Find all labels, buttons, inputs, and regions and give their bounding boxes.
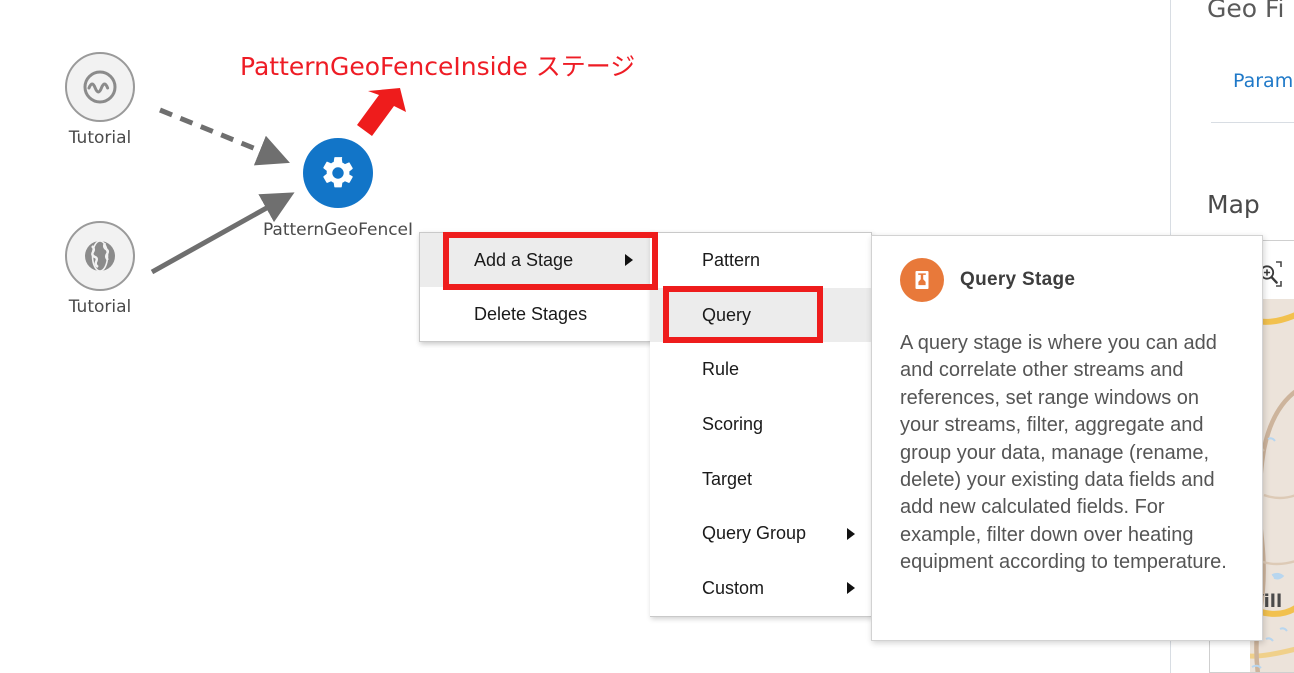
node-geo-circle[interactable] xyxy=(65,221,135,291)
menu-item-add-a-stage[interactable]: Add a Stage xyxy=(420,233,651,287)
node-geo-label: Tutorial xyxy=(62,297,138,317)
tooltip-header: Query Stage xyxy=(900,258,1238,302)
submenu-item-query-label: Query xyxy=(702,305,751,326)
connector-dashed xyxy=(160,110,283,160)
submenu-item-scoring-label: Scoring xyxy=(702,414,763,435)
panel-title: Geo Fi xyxy=(1207,0,1285,23)
node-pattern-geofence-inside[interactable]: PatternGeoFenceI xyxy=(300,138,376,208)
chevron-right-icon xyxy=(625,254,633,266)
node-geo[interactable]: Tutorial xyxy=(62,221,138,317)
map-section-heading: Map xyxy=(1207,190,1260,219)
submenu-item-custom[interactable]: Custom xyxy=(650,561,871,616)
gear-icon xyxy=(319,154,357,192)
submenu-item-query-group[interactable]: Query Group xyxy=(650,506,871,561)
menu-item-delete-stages-label: Delete Stages xyxy=(474,304,587,325)
submenu-item-custom-label: Custom xyxy=(702,578,764,599)
tooltip-title: Query Stage xyxy=(960,269,1075,291)
parameters-link[interactable]: Param xyxy=(1233,70,1293,92)
query-stage-tooltip: Query Stage A query stage is where you c… xyxy=(871,235,1263,641)
submenu-item-pattern[interactable]: Pattern xyxy=(650,233,871,288)
chevron-right-icon xyxy=(847,528,855,540)
submenu-item-target[interactable]: Target xyxy=(650,452,871,507)
submenu-item-target-label: Target xyxy=(702,469,752,490)
stream-wave-icon xyxy=(80,67,120,107)
node-pattern-label: PatternGeoFenceI xyxy=(238,220,438,240)
submenu-item-rule-label: Rule xyxy=(702,359,739,380)
menu-item-add-a-stage-label: Add a Stage xyxy=(474,250,573,271)
node-stream-label: Tutorial xyxy=(62,128,138,148)
context-menu[interactable]: Add a Stage Delete Stages xyxy=(419,232,652,342)
chevron-right-icon xyxy=(847,582,855,594)
annotation-arrow-icon xyxy=(352,86,408,148)
query-stage-icon xyxy=(900,258,944,302)
node-stream[interactable]: Tutorial xyxy=(62,52,138,148)
tooltip-description: A query stage is where you can add and c… xyxy=(900,330,1238,577)
add-a-stage-submenu[interactable]: Pattern Query Rule Scoring Target Query … xyxy=(650,232,872,617)
submenu-item-scoring[interactable]: Scoring xyxy=(650,397,871,452)
node-stream-circle[interactable] xyxy=(65,52,135,122)
menu-item-delete-stages[interactable]: Delete Stages xyxy=(420,287,651,341)
submenu-item-pattern-label: Pattern xyxy=(702,250,760,271)
node-pattern-circle[interactable] xyxy=(303,138,373,208)
globe-icon xyxy=(81,237,119,275)
submenu-item-query[interactable]: Query xyxy=(650,288,871,343)
annotation-label: PatternGeoFenceInside ステージ xyxy=(240,47,635,83)
panel-divider xyxy=(1211,122,1294,123)
submenu-item-rule[interactable]: Rule xyxy=(650,342,871,397)
submenu-item-query-group-label: Query Group xyxy=(702,523,806,544)
